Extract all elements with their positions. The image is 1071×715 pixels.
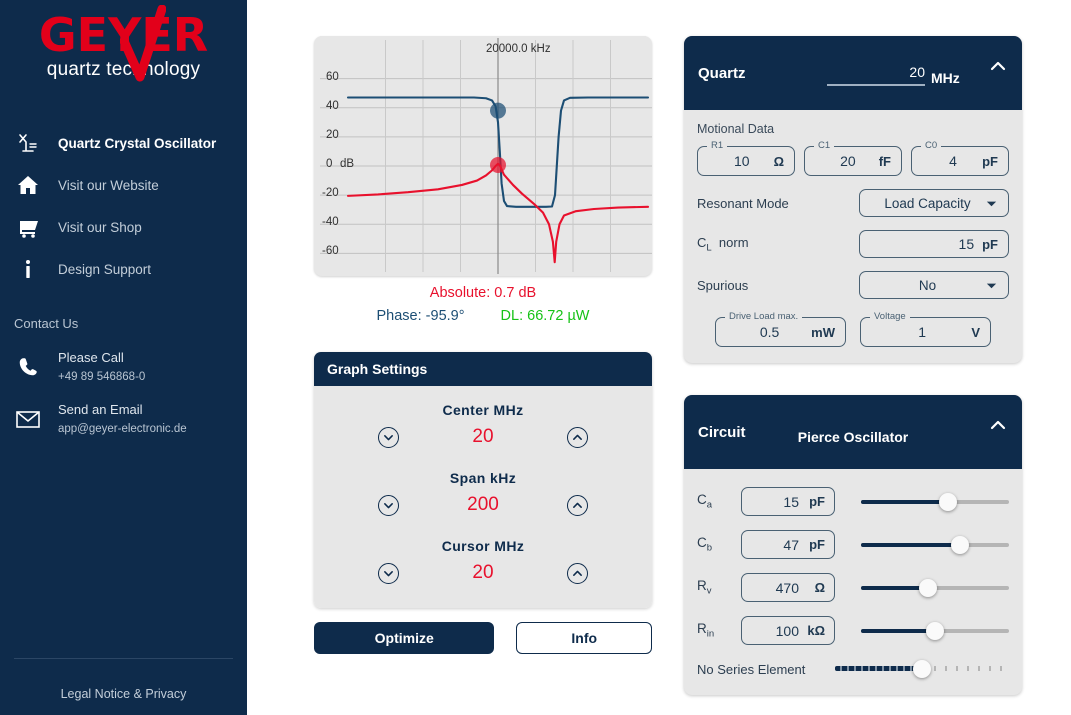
graph-settings-card: Graph Settings Center MHz 20	[314, 352, 652, 608]
chart-y-tick-label: 0	[326, 158, 332, 170]
sidebar-item-label: Design Support	[58, 262, 151, 277]
contact-detail: +49 89 546868-0	[58, 371, 145, 383]
field-r1[interactable]: R1 10 Ω	[697, 146, 795, 176]
quartz-panel-title: Quartz	[698, 65, 746, 82]
readout-drive-level: DL: 66.72 µW	[501, 308, 590, 324]
cursor-value[interactable]: 20	[451, 562, 515, 584]
phone-icon	[14, 353, 42, 381]
info-button[interactable]: Info	[516, 622, 652, 654]
field-value: 20	[817, 153, 879, 169]
spurious-label: Spurious	[697, 278, 748, 293]
slider-thumb[interactable]	[926, 622, 944, 640]
motional-data-label: Motional Data	[697, 122, 1009, 136]
cb-unit: pF	[799, 537, 825, 552]
spurious-select[interactable]: No	[859, 271, 1009, 299]
sidebar: GEYER quartz technology Quartz Crystal O…	[0, 0, 247, 715]
chart-canvas	[314, 36, 652, 276]
brand-logo[interactable]: GEYER quartz technology	[0, 0, 247, 100]
chart-y-tick-label: 20	[326, 129, 339, 141]
contact-detail: app@geyer-electronic.de	[58, 423, 187, 435]
legal-notice-link[interactable]: Legal Notice & Privacy	[0, 687, 247, 701]
chart-y-tick-label: -20	[322, 187, 339, 199]
rin-value: 100	[751, 623, 799, 639]
field-voltage[interactable]: Voltage 1 V	[860, 317, 991, 347]
left-column: 20000.0 kHz 6040200-20-40-60dB Absolute:…	[314, 36, 652, 654]
span-value[interactable]: 200	[451, 494, 515, 516]
circuit-panel-body: Ca 15 pF Cb 4	[684, 469, 1022, 695]
logo-tagline: quartz technology	[24, 59, 224, 81]
setting-label: Cursor MHz	[314, 538, 652, 554]
field-value: 0.5	[728, 324, 811, 340]
circuit-row-label: Rin	[697, 621, 741, 640]
span-decrement-button[interactable]	[378, 495, 399, 516]
slider-fill	[861, 629, 935, 633]
load-capacitance-value: 15	[870, 236, 982, 252]
field-legend: C0	[921, 140, 941, 151]
load-capacitance-row: CL norm 15 pF	[697, 230, 1009, 258]
rin-slider[interactable]	[861, 621, 1009, 641]
quartz-panel-header: Quartz 20 MHz	[684, 36, 1022, 110]
rv-value: 470	[751, 580, 799, 596]
slider-fill	[861, 586, 928, 590]
slider-thumb[interactable]	[913, 660, 931, 678]
cursor-decrement-button[interactable]	[378, 563, 399, 584]
field-drive-load-max[interactable]: Drive Load max. 0.5 mW	[715, 317, 846, 347]
sidebar-item-visit-our-shop[interactable]: Visit our Shop	[0, 206, 247, 248]
graph-settings-body: Center MHz 20 Span kHz	[314, 386, 652, 608]
circuit-row-label: Ca	[697, 492, 741, 511]
circuit-row-label: Cb	[697, 535, 741, 554]
chart-y-tick-label: 60	[326, 71, 339, 83]
action-buttons: Optimize Info	[314, 622, 652, 654]
slider-fill	[861, 543, 960, 547]
slider-thumb[interactable]	[951, 536, 969, 554]
load-capacitance-label: CL norm	[697, 235, 749, 254]
spurious-row: Spurious No	[697, 271, 1009, 299]
quartz-frequency-value: 20	[909, 64, 925, 80]
field-c0[interactable]: C0 4 pF	[911, 146, 1009, 176]
field-unit: V	[971, 325, 980, 340]
cart-icon	[14, 213, 42, 241]
cb-value: 47	[751, 537, 799, 553]
chevron-down-icon	[985, 279, 998, 292]
graph-settings-title: Graph Settings	[314, 352, 652, 386]
chart-y-tick-label: -40	[322, 216, 339, 228]
sidebar-item-quartz-crystal-oscillator[interactable]: Quartz Crystal Oscillator	[0, 122, 247, 164]
sidebar-divider	[14, 658, 233, 659]
circuit-row-series-element: No Series Element	[697, 659, 1009, 679]
contact-title: Please Call	[58, 350, 124, 365]
main-content: 20000.0 kHz 6040200-20-40-60dB Absolute:…	[247, 0, 1071, 715]
ca-value: 15	[751, 494, 799, 510]
logo-wordmark: GEYER	[24, 9, 224, 61]
circuit-row-rin: Rin 100 kΩ	[697, 616, 1009, 645]
field-value: 10	[710, 153, 774, 169]
home-icon	[14, 171, 42, 199]
field-value: 1	[873, 324, 971, 340]
chart-readouts: Absolute: 0.7 dB Phase: -95.9° DL: 66.72…	[314, 285, 652, 324]
sidebar-item-label: Visit our Shop	[58, 220, 142, 235]
quartz-panel-body: Motional Data R1 10 Ω C1 20 fF	[684, 110, 1022, 363]
resonant-mode-value: Load Capacity	[870, 196, 985, 211]
contact-email[interactable]: Send an Email app@geyer-electronic.de	[0, 393, 247, 445]
circuit-row-ca: Ca 15 pF	[697, 487, 1009, 516]
quartz-collapse-chevron-up-icon[interactable]	[988, 56, 1008, 76]
load-capacitance-unit: pF	[982, 237, 998, 252]
slider-fill	[861, 500, 948, 504]
rv-input[interactable]: 470 Ω	[741, 573, 835, 602]
right-column: Quartz 20 MHz Motional Data R1 10	[684, 36, 1022, 695]
graph-setting-cursor: Cursor MHz 20	[314, 538, 652, 584]
circuit-panel: Circuit Pierce Oscillator Ca 15 pF	[684, 395, 1022, 695]
mail-icon	[14, 405, 42, 433]
field-legend: Voltage	[870, 311, 910, 322]
span-increment-button[interactable]	[567, 495, 588, 516]
slider-thumb[interactable]	[919, 579, 937, 597]
spurious-value: No	[870, 278, 985, 293]
readout-absolute: Absolute: 0.7 dB	[314, 285, 652, 301]
optimize-button[interactable]: Optimize	[314, 622, 494, 654]
center-increment-button[interactable]	[567, 427, 588, 448]
series-element-slider[interactable]	[835, 659, 1009, 679]
contact-phone[interactable]: Please Call +49 89 546868-0	[0, 341, 247, 393]
quartz-frequency-unit: MHz	[931, 70, 960, 86]
chevron-down-icon	[985, 197, 998, 210]
sidebar-nav: Quartz Crystal Oscillator Visit our Webs…	[0, 122, 247, 290]
circuit-row-rv: Rv 470 Ω	[697, 573, 1009, 602]
ca-unit: pF	[799, 494, 825, 509]
field-legend: Drive Load max.	[725, 311, 802, 322]
field-unit: mW	[811, 325, 835, 340]
resonant-mode-label: Resonant Mode	[697, 196, 789, 211]
setting-label: Span kHz	[314, 470, 652, 486]
ca-input[interactable]: 15 pF	[741, 487, 835, 516]
contact-title: Send an Email	[58, 402, 143, 417]
resonant-mode-row: Resonant Mode Load Capacity	[697, 189, 1009, 217]
chart-y-tick-label: 40	[326, 100, 339, 112]
sidebar-item-label: Quartz Crystal Oscillator	[58, 136, 216, 151]
load-capacitance-input[interactable]: 15 pF	[859, 230, 1009, 258]
circuit-row-cb: Cb 47 pF	[697, 530, 1009, 559]
rin-unit: kΩ	[799, 623, 825, 638]
field-value: 4	[924, 153, 982, 169]
circuit-type-label: Pierce Oscillator	[684, 429, 1022, 445]
quartz-frequency-input[interactable]: 20	[827, 64, 925, 86]
slider-thumb[interactable]	[939, 493, 957, 511]
rv-slider[interactable]	[861, 578, 1009, 598]
chart-cursor-label: 20000.0 kHz	[486, 43, 551, 55]
app-root: GEYER quartz technology Quartz Crystal O…	[0, 0, 1071, 715]
graph-setting-center: Center MHz 20	[314, 402, 652, 448]
chart-y-unit-label: dB	[340, 158, 354, 170]
setting-label: Center MHz	[314, 402, 652, 418]
field-c1[interactable]: C1 20 fF	[804, 146, 902, 176]
circuit-collapse-chevron-up-icon[interactable]	[988, 415, 1008, 435]
circuit-row-label: Rv	[697, 578, 741, 597]
ca-slider[interactable]	[861, 492, 1009, 512]
cb-slider[interactable]	[861, 535, 1009, 555]
field-unit: pF	[982, 154, 998, 169]
chart-y-tick-label: -60	[322, 245, 339, 257]
center-decrement-button[interactable]	[378, 427, 399, 448]
cb-input[interactable]: 47 pF	[741, 530, 835, 559]
circuit-panel-header: Circuit Pierce Oscillator	[684, 395, 1022, 469]
field-legend: C1	[814, 140, 834, 151]
sidebar-item-design-support[interactable]: Design Support	[0, 248, 247, 290]
graph-setting-span: Span kHz 200	[314, 470, 652, 516]
contact-heading: Contact Us	[0, 290, 247, 341]
oscillator-icon	[14, 129, 42, 157]
response-chart[interactable]: 20000.0 kHz 6040200-20-40-60dB	[314, 36, 652, 276]
cursor-increment-button[interactable]	[567, 563, 588, 584]
rin-input[interactable]: 100 kΩ	[741, 616, 835, 645]
field-legend: R1	[707, 140, 727, 151]
sidebar-item-visit-our-website[interactable]: Visit our Website	[0, 164, 247, 206]
resonant-mode-select[interactable]: Load Capacity	[859, 189, 1009, 217]
rv-unit: Ω	[799, 580, 825, 595]
field-unit: Ω	[774, 154, 784, 169]
motional-data-fields: R1 10 Ω C1 20 fF C0 4 pF	[697, 146, 1009, 176]
quartz-bottom-fields: Drive Load max. 0.5 mW Voltage 1 V	[697, 317, 1009, 347]
info-icon	[14, 255, 42, 283]
readout-phase: Phase: -95.9°	[377, 308, 465, 324]
sidebar-item-label: Visit our Website	[58, 178, 159, 193]
quartz-panel: Quartz 20 MHz Motional Data R1 10	[684, 36, 1022, 363]
field-unit: fF	[879, 154, 891, 169]
series-element-label: No Series Element	[697, 662, 835, 677]
center-value[interactable]: 20	[451, 426, 515, 448]
slider-fill	[835, 666, 922, 671]
